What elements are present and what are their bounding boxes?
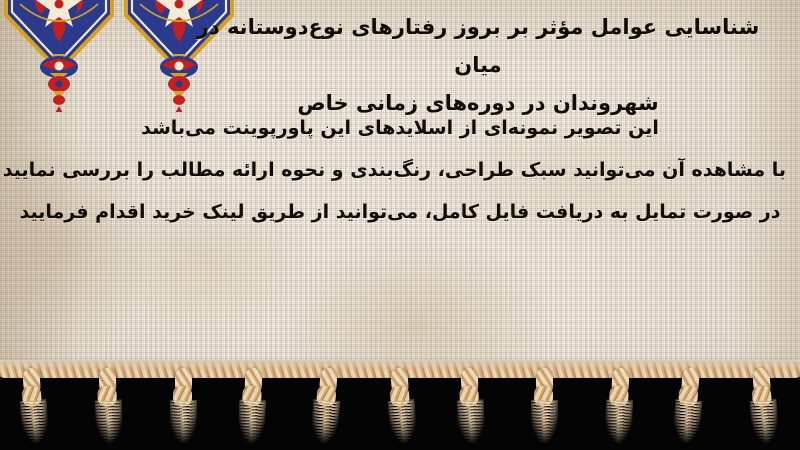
tassel-skirt [605, 399, 634, 444]
fringe-tassel [606, 368, 635, 445]
slide-body-line-2: با مشاهده آن می‌توانید سبک طراحی، رنگ‌بن… [14, 149, 786, 191]
slide-title: شناسایی عوامل مؤثر بر بروز رفتارهای نوع‌… [178, 8, 778, 122]
tassel-skirt [20, 399, 50, 445]
carpet-fringe [0, 354, 800, 450]
tassel-skirt [388, 399, 418, 445]
slide-body-line-3: در صورت تمایل به دریافت فایل کامل، می‌تو… [14, 191, 786, 233]
fringe-tassel [532, 368, 558, 444]
fringe-tassel [95, 368, 124, 445]
fringe-tassel [238, 368, 267, 445]
tassel-skirt [170, 400, 197, 444]
tassel-skirt [672, 399, 702, 445]
tassel-skirt [310, 399, 340, 445]
slide-canvas: شناسایی عوامل مؤثر بر بروز رفتارهای نوع‌… [0, 0, 800, 450]
slide-body-line-1: این تصویر نمونه‌ای از اسلایدهای این پاور… [14, 107, 786, 149]
slide-body: این تصویر نمونه‌ای از اسلایدهای این پاور… [14, 107, 786, 233]
fringe-tassel [456, 368, 485, 445]
tassel-skirt [95, 400, 124, 445]
fringe-tassel [171, 368, 197, 444]
tassel-skirt [237, 399, 266, 444]
tassel-skirt [456, 400, 485, 445]
fringe-tassel [748, 367, 780, 445]
tassel-skirt [749, 399, 779, 445]
slide-title-line-1: شناسایی عوامل مؤثر بر بروز رفتارهای نوع‌… [178, 8, 778, 84]
tassel-skirt [531, 400, 558, 444]
